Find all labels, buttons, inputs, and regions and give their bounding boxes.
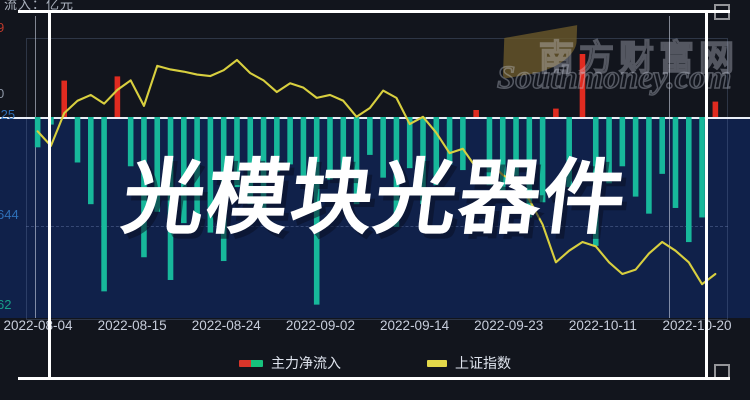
bar [75,117,81,162]
x-axis-tick-label: 2022-09-14 [380,318,449,333]
legend-label: 主力净流入 [271,353,341,373]
x-axis-tick-label: 2022-08-15 [98,318,167,333]
frame-corner-top-right [714,4,730,20]
y-axis-tick-label: 0 [0,86,4,101]
bar [115,76,121,117]
bar [580,54,586,117]
bar [553,109,559,117]
x-axis-tick-label: 2022-10-20 [662,318,731,333]
legend-item-main-net-inflow[interactable]: 主力净流入 [239,353,341,373]
bar [367,117,373,155]
x-axis-tick-label: 2022-10-11 [569,318,637,333]
legend-swatch-icon [427,360,447,367]
legend-swatch-icon [239,360,263,367]
chart-screenshot: 流入：亿元 90.2564462 2022-08-042022-08-15202… [0,0,750,400]
x-axis-tick-label: 2022-09-02 [286,318,355,333]
legend-item-shanghai-index[interactable]: 上证指数 [427,353,511,373]
frame-right [705,10,708,380]
x-axis-tick-label: 2022-08-24 [192,318,261,333]
bar [713,102,719,117]
x-axis-tick-label: 2022-08-04 [3,318,72,333]
y-axis-tick-label: .25 [0,107,15,122]
y-axis-tick-label: 62 [0,297,11,312]
frame-top [18,10,730,13]
x-axis-tick-label: 2022-09-23 [474,318,543,333]
bar [473,110,479,117]
x-axis-labels: 2022-08-042022-08-152022-08-242022-09-02… [0,318,750,342]
frame-left [48,10,51,380]
chart-legend[interactable]: 主力净流入上证指数 [0,350,750,376]
legend-label: 上证指数 [455,353,511,373]
y-axis-tick-label: 9 [0,20,4,35]
frame-corner-bottom-right [714,364,730,380]
overlay-title: 光模块光器件 [0,158,750,240]
frame-bottom [18,377,730,380]
